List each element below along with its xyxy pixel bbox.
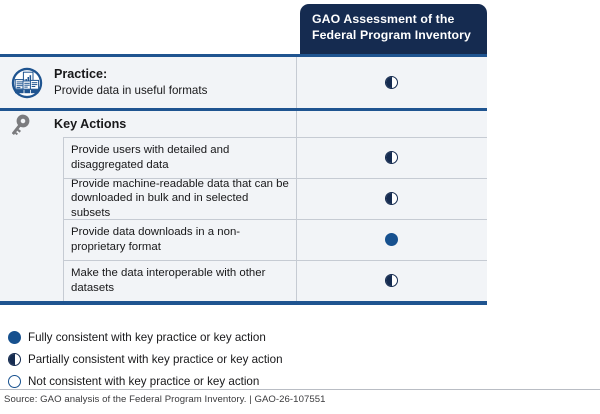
key-action-text: Make the data interoperable with other d… [71,266,289,294]
key-action-assessment-cell [296,219,487,260]
source-note: Source: GAO analysis of the Federal Prog… [4,394,326,405]
column-divider [296,111,297,137]
legend-label-none: Not consistent with key practice or key … [28,375,259,388]
assessment-mark-none-icon [8,375,21,388]
legend-item-full: Fully consistent with key practice or ke… [0,326,600,348]
practice-row: Practice: Provide data in useful formats [0,57,487,108]
table-header-zone: GAO Assessment of the Federal Program In… [0,0,600,54]
assessment-mark-partial-icon [8,353,21,366]
key-actions-list: Provide users with detailed and disaggre… [0,137,487,301]
key-action-row: Provide users with detailed and disaggre… [0,137,487,178]
column-header-line-1: GAO Assessment of the [312,12,477,28]
legend-label-partial: Partially consistent with key practice o… [28,353,283,366]
legend-label-full: Fully consistent with key practice or ke… [28,331,266,344]
key-actions-icon-cell [0,112,54,136]
key-action-text: Provide machine-readable data that can b… [71,177,289,220]
assessment-mark-partial [385,151,398,164]
assessment-mark-full-icon [8,331,21,344]
legend-swatch-partial [8,353,28,366]
key-icon [12,112,42,136]
legend-item-partial: Partially consistent with key practice o… [0,348,600,370]
key-action-text: Provide data downloads in a non-propriet… [71,225,289,253]
assessment-mark-partial [385,192,398,205]
practice-icon-cell [0,67,54,99]
key-action-row: Provide machine-readable data that can b… [0,178,487,219]
key-action-assessment-cell [296,137,487,178]
source-divider [0,389,600,390]
data-documents-icon [11,67,43,99]
assessment-mark-partial [385,76,398,89]
key-action-row: Provide data downloads in a non-propriet… [0,219,487,260]
practice-assessment-cell [296,57,487,108]
column-header-gao-assessment: GAO Assessment of the Federal Program In… [300,4,487,54]
key-actions-header-row: Key Actions [0,111,487,137]
legend-swatch-full [8,331,28,344]
key-actions-title: Key Actions [54,117,126,131]
assessment-mark-partial [385,274,398,287]
legend-swatch-none [8,375,28,388]
table-bottom-rule [0,301,487,305]
key-action-text: Provide users with detailed and disaggre… [71,143,289,171]
assessment-mark-full [385,233,398,246]
key-action-assessment-cell [296,178,487,219]
key-action-row: Make the data interoperable with other d… [0,260,487,301]
assessment-table: Practice: Provide data in useful formats [0,54,487,305]
legend: Fully consistent with key practice or ke… [0,326,600,392]
column-header-line-2: Federal Program Inventory [312,28,477,44]
key-action-assessment-cell [296,260,487,301]
